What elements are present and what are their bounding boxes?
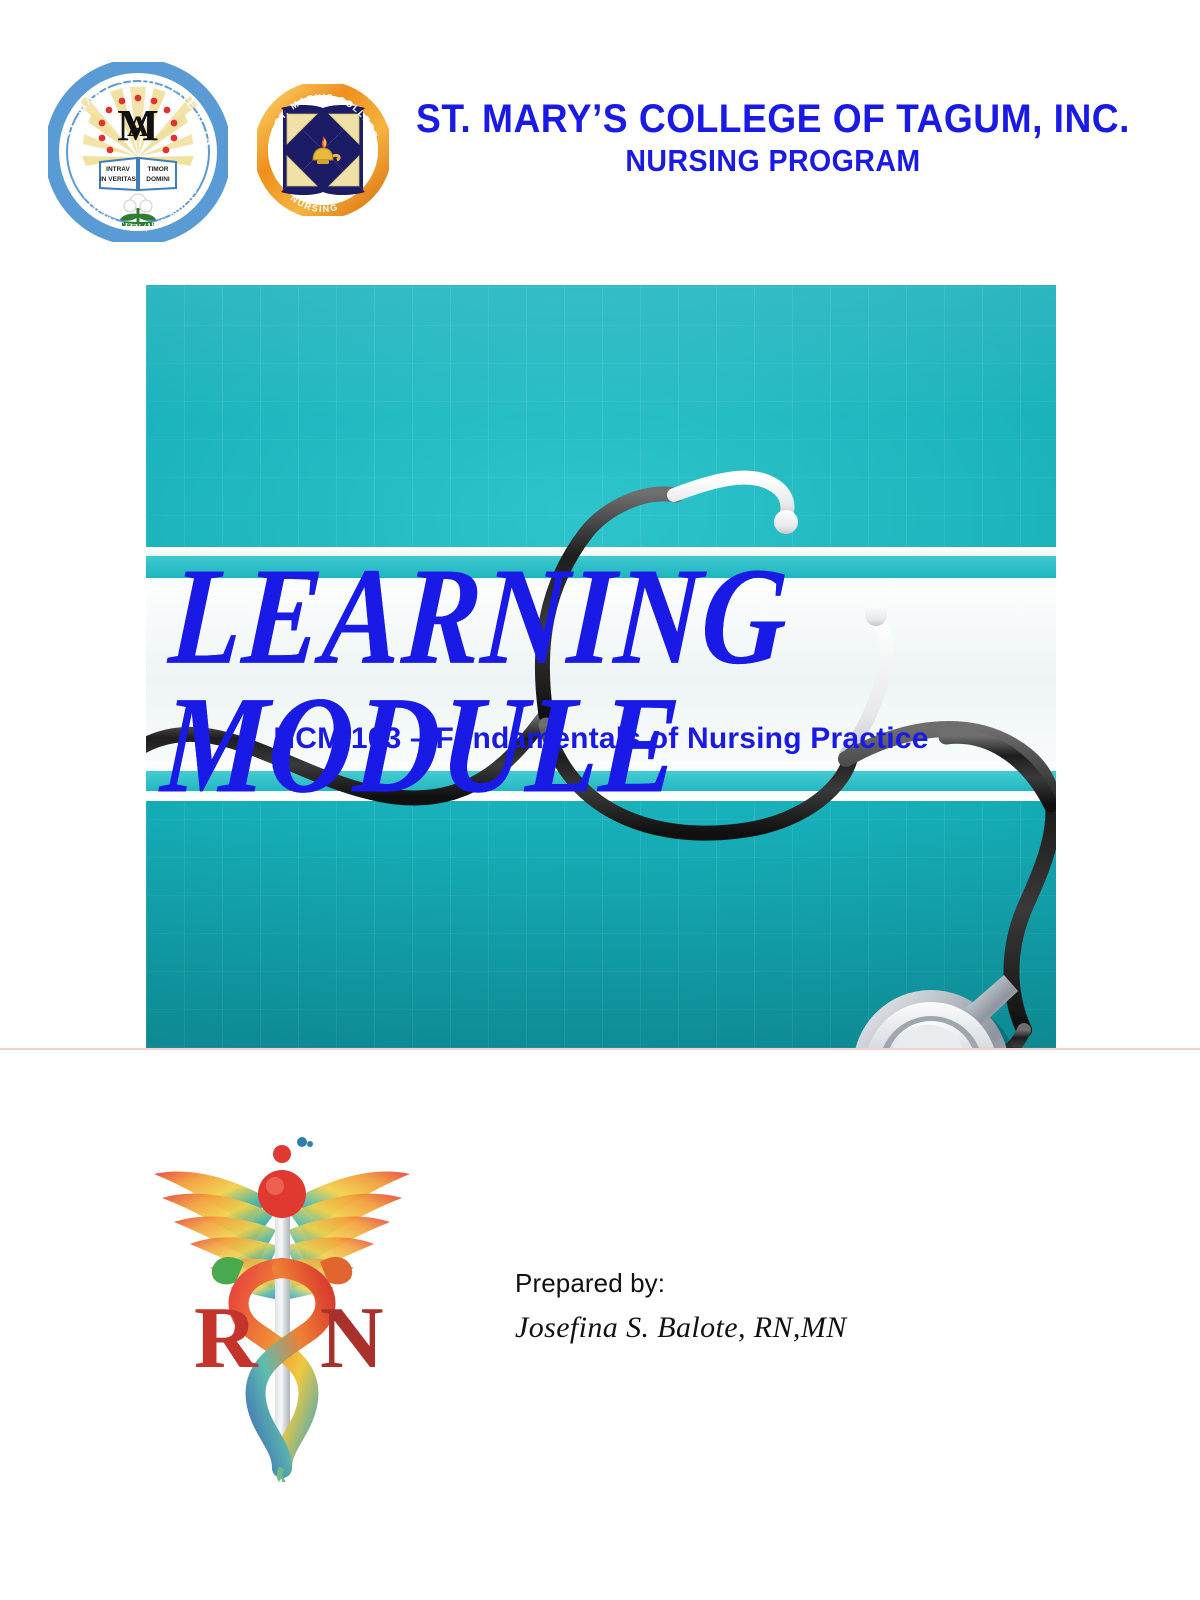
svg-text:DOMINI: DOMINI	[146, 176, 170, 183]
page-divider	[0, 1048, 1200, 1050]
rn-caduceus-icon: R N	[132, 1082, 432, 1482]
nursing-emblem-icon: ST. MARY'S COLLEGE NURSING	[257, 84, 389, 216]
page-header: M A INTRAV IN VERITAS TIMOR DOMINI	[0, 0, 1200, 250]
stethoscope-cover-image: NCM 103 – Fundamentals of Nursing Practi…	[146, 285, 1056, 1048]
svg-text:IN VERITAS: IN VERITAS	[100, 176, 137, 183]
program-name: NURSING PROGRAM	[410, 143, 1137, 179]
prepared-by-name: Josefina S. Balote, RN,MN	[515, 1311, 1015, 1345]
caduceus-letter-r: R	[194, 1290, 259, 1387]
school-name: ST. MARY’S COLLEGE OF TAGUM, INC.	[406, 98, 1141, 141]
caduceus-letter-n: N	[320, 1290, 384, 1387]
svg-text:TIMOR: TIMOR	[148, 166, 169, 173]
learning-module-stamp: LEARNING MODULE	[159, 553, 792, 809]
svg-text:A: A	[127, 110, 149, 143]
svg-text:INTRAV: INTRAV	[106, 166, 130, 173]
college-seal-icon: M A INTRAV IN VERITAS TIMOR DOMINI	[48, 62, 228, 242]
prepared-by-block: Prepared by: Josefina S. Balote, RN,MN	[515, 1268, 1015, 1345]
header-title-block: ST. MARY’S COLLEGE OF TAGUM, INC. NURSIN…	[378, 98, 1168, 179]
prepared-by-label: Prepared by:	[515, 1268, 1015, 1299]
